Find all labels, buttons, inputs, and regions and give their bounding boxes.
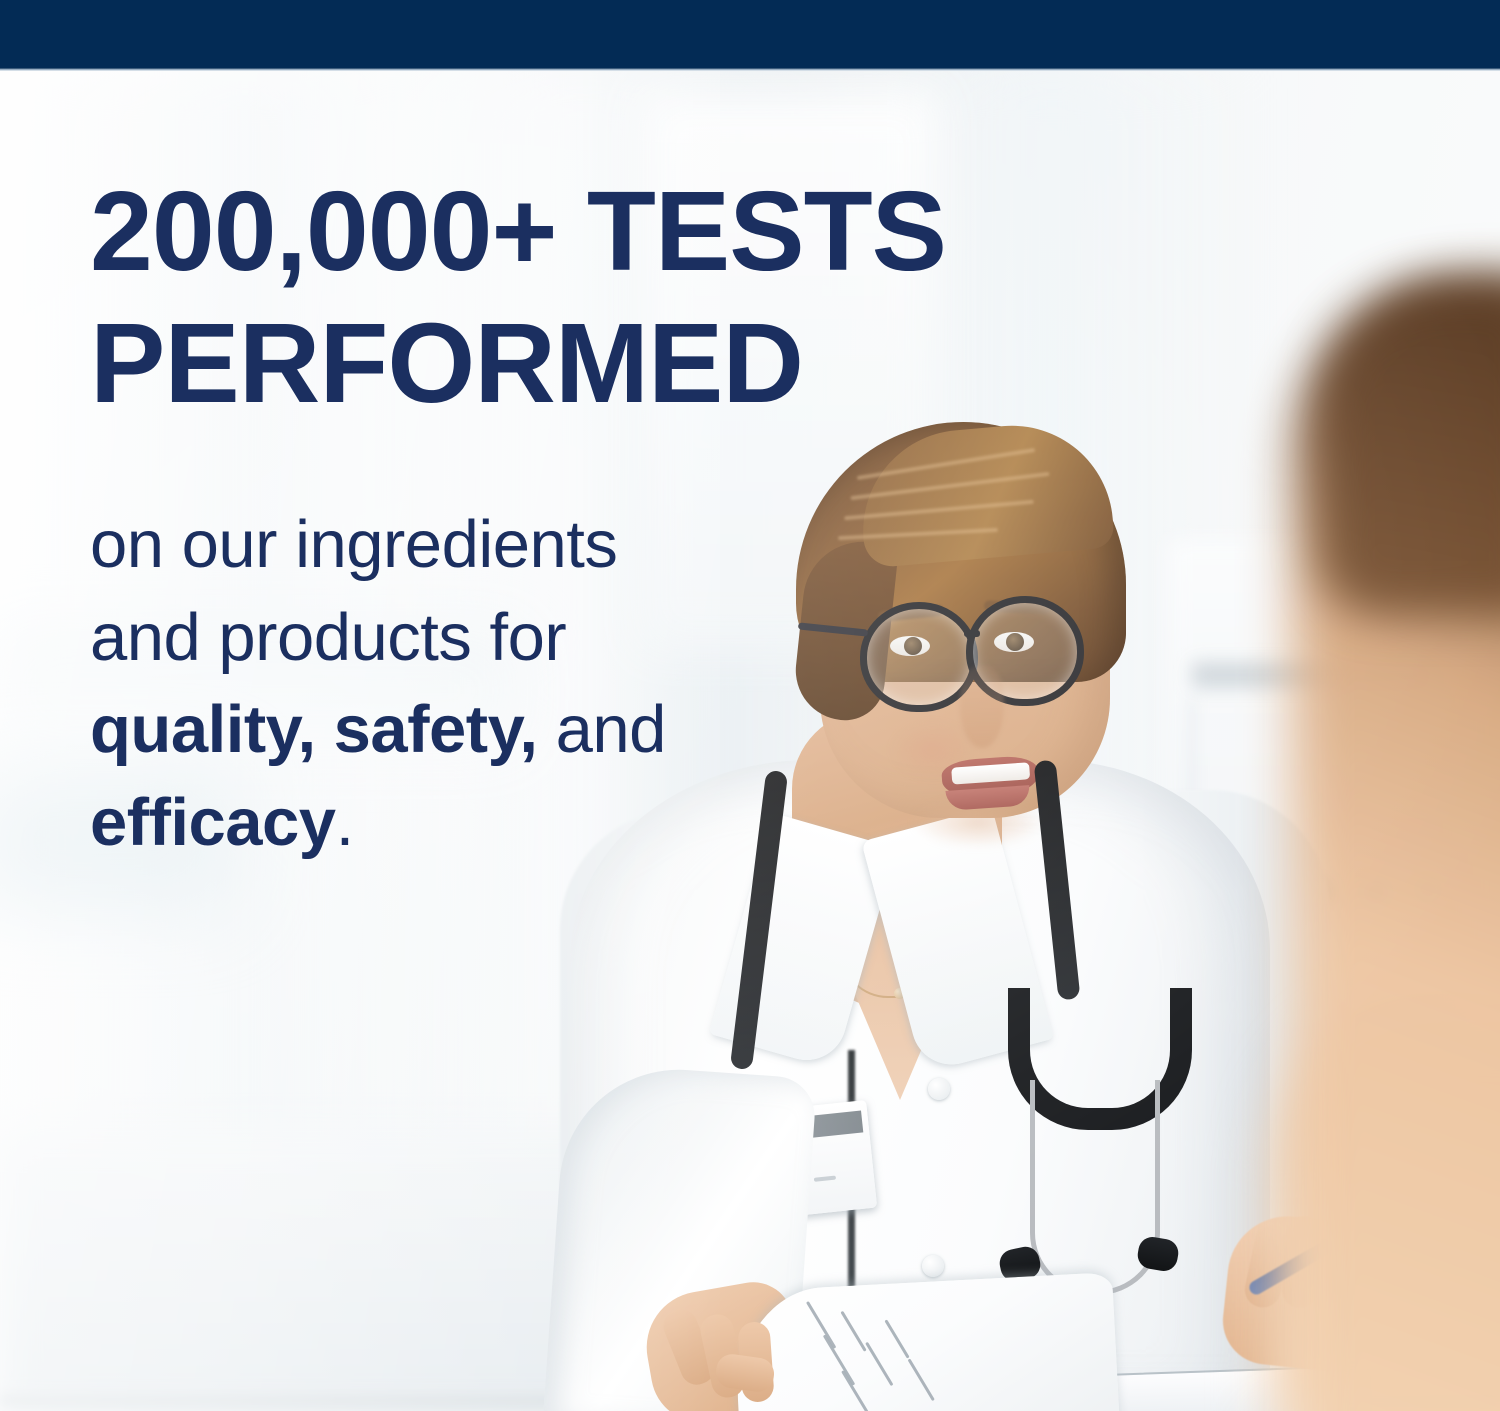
copy-block: 200,000+ TESTS PERFORMED on our ingredie… [90, 165, 1040, 869]
stat-banner: 200,000+ TESTS PERFORMED on our ingredie… [0, 0, 1500, 1411]
subcopy-part-2: and [538, 692, 666, 767]
paper-text-line [823, 1334, 855, 1385]
paper-text-line [865, 1342, 893, 1386]
paper-text-line [908, 1358, 935, 1401]
subcopy: on our ingredients and products for qual… [90, 499, 730, 869]
lab-coat-button [922, 1255, 944, 1277]
name-badge-text-line [814, 1176, 836, 1182]
top-bar-edge [0, 68, 1500, 71]
subcopy-part-3: . [336, 785, 354, 860]
lab-coat-button [928, 1078, 950, 1100]
paper-text-line [884, 1319, 909, 1358]
subcopy-part-1: on our ingredients and products for [90, 507, 617, 674]
paper-text-line [840, 1311, 866, 1352]
paper-text-line [806, 1301, 836, 1349]
page-title: 200,000+ TESTS PERFORMED [90, 165, 1040, 429]
top-navy-bar [0, 0, 1500, 70]
paper-text-line [841, 1370, 870, 1411]
subcopy-bold-quality-safety: quality, safety, [90, 692, 538, 767]
patient-hair-blurred [1322, 284, 1500, 614]
subcopy-bold-efficacy: efficacy [90, 785, 336, 860]
